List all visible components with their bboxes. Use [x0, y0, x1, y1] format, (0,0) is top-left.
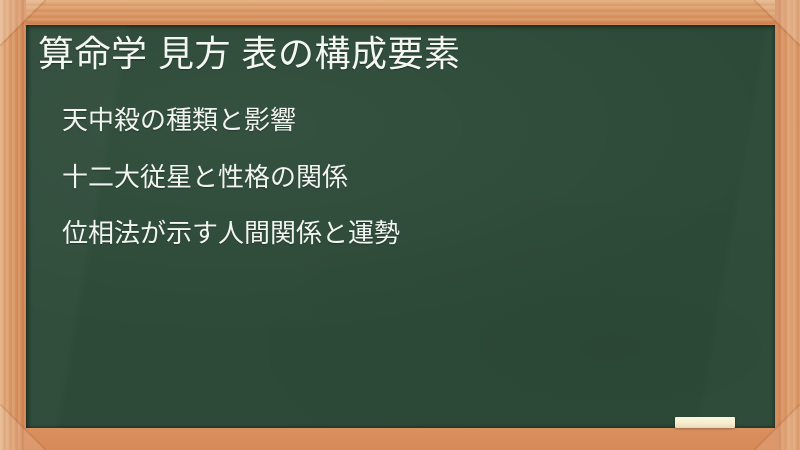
chalkboard: 算命学 見方 表の構成要素 天中殺の種類と影響 十二大従星と性格の関係 位相法が… — [26, 25, 775, 428]
slide-canvas: 算命学 見方 表の構成要素 天中殺の種類と影響 十二大従星と性格の関係 位相法が… — [0, 0, 800, 450]
list-item: 位相法が示す人間関係と運勢 — [62, 219, 400, 248]
frame-rail-top — [0, 0, 800, 25]
topic-list: 天中殺の種類と影響 十二大従星と性格の関係 位相法が示す人間関係と運勢 — [62, 106, 400, 248]
list-item: 十二大従星と性格の関係 — [62, 163, 400, 192]
chalkboard-surface: 算命学 見方 表の構成要素 天中殺の種類と影響 十二大従星と性格の関係 位相法が… — [26, 25, 775, 428]
frame-rail-bottom — [0, 428, 800, 450]
slide-title: 算命学 見方 表の構成要素 — [38, 33, 461, 74]
frame-rail-right — [775, 0, 800, 450]
frame-rail-left — [0, 0, 26, 450]
list-item: 天中殺の種類と影響 — [62, 106, 400, 135]
